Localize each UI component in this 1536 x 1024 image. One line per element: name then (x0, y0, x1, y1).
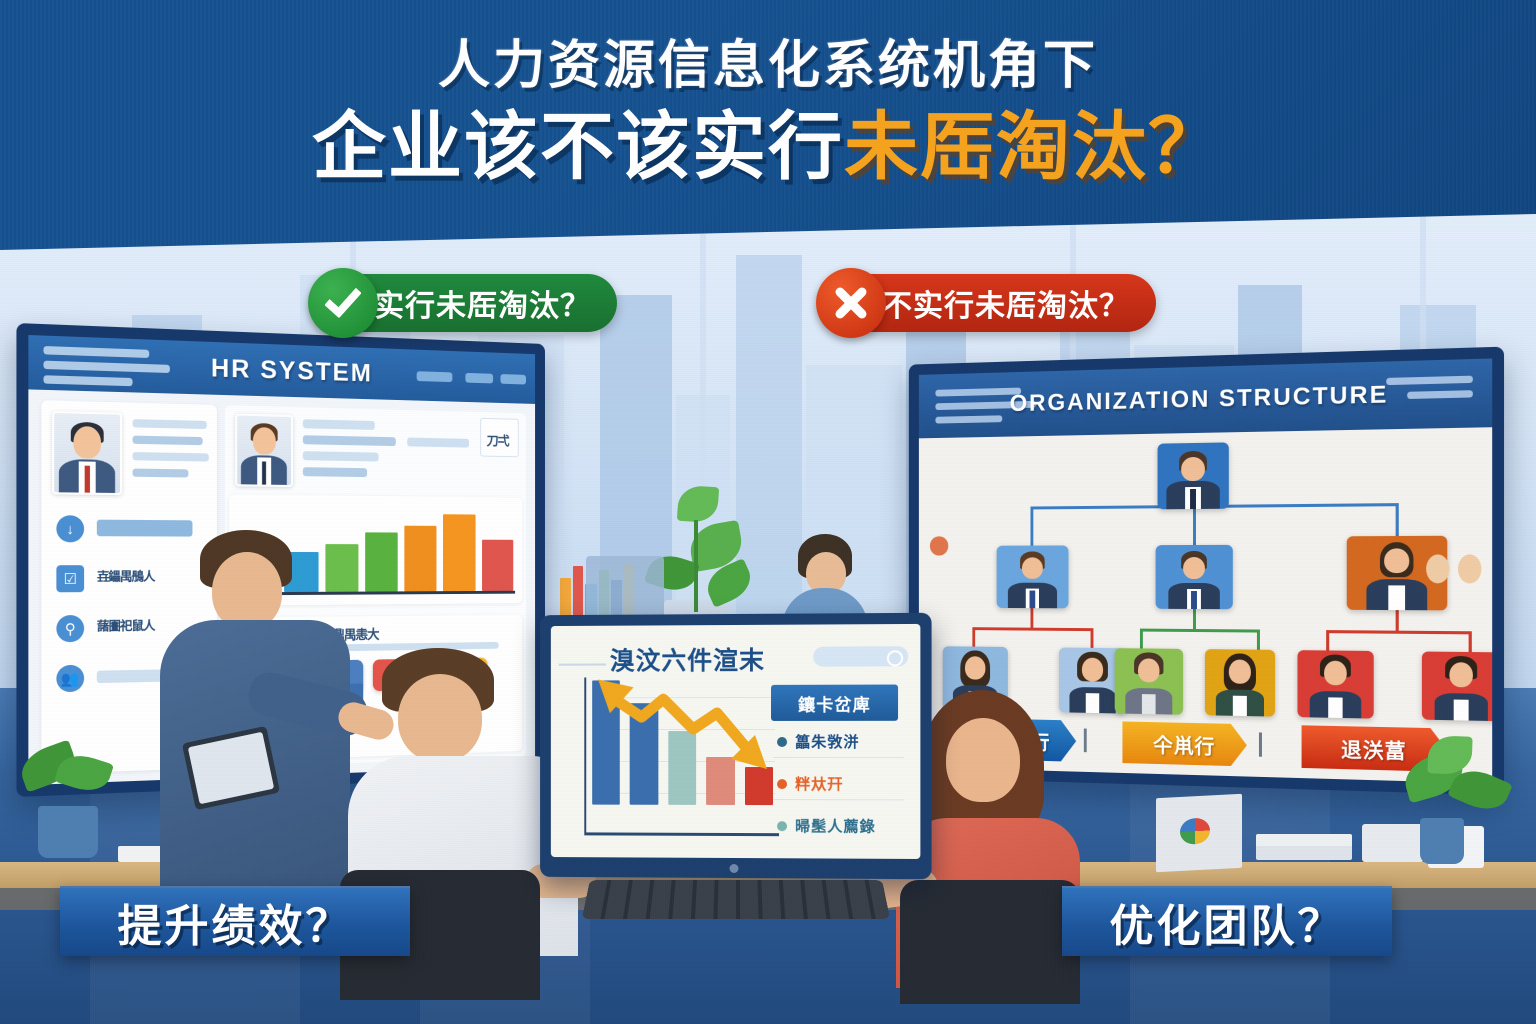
accent-dot (930, 536, 948, 555)
org-node-manager-a[interactable] (997, 545, 1069, 608)
org-connector (1326, 630, 1329, 652)
monitor-highlight-label: 鑲卡岔庳 (798, 690, 871, 715)
download-icon[interactable]: ↓ (56, 515, 84, 542)
org-node-ceo[interactable] (1158, 442, 1229, 509)
org-connector (972, 627, 1093, 631)
monitor-bullet-2: 䉽夶幵 (795, 773, 843, 794)
org-pill-3-label: 退浂葍 (1341, 733, 1407, 764)
bullet-dot (777, 737, 787, 747)
bottom-banner-right-label: 优化团队？ (1110, 890, 1345, 954)
bottom-banner-right: 优化团队？ (1062, 886, 1392, 956)
poster-root: 人力资源信息化系统机角下 企业该不该实行未厒淘汰？ 实行未厒淘汰？ 不实行未厒淘… (0, 0, 1536, 1024)
left-plant-pot (38, 806, 98, 858)
title-line2-white: 企业该不该实行 (312, 105, 844, 188)
bottom-banner-left-label: 提升绩效？ (118, 890, 353, 954)
page-title-line2: 企业该不该实行未厒淘汰？ (312, 110, 1224, 184)
org-connector (1030, 506, 1033, 547)
title-block: 人力资源信息化系统机角下 企业该不该实行未厒淘汰？ (0, 0, 1536, 250)
monitor-screen-content: 溴汶六件渲末 鑲卡岔庳 (551, 624, 921, 859)
org-node-staff-5[interactable] (1297, 650, 1373, 719)
org-node-staff-6[interactable] (1422, 651, 1501, 721)
bar-5 (404, 526, 436, 592)
org-connector (1326, 630, 1471, 634)
badge-yes-label: 实行未厒淘汰？ (374, 281, 591, 325)
hr-system-title: HR SYSTEM (28, 335, 535, 404)
employee-photo-1 (52, 411, 122, 495)
power-indicator (730, 864, 739, 873)
team-icon[interactable]: 👥 (56, 665, 84, 693)
standing-presenter (160, 530, 370, 930)
org-connector (1469, 631, 1472, 654)
org-connector (972, 627, 975, 648)
note-glyph: 刀弌 (487, 431, 509, 450)
monitor-highlight-chip[interactable]: 鑲卡岔庳 (771, 685, 898, 721)
page-title-line1: 人力资源信息化系统机角下 (438, 40, 1098, 92)
title-line2-orange: 未厒淘汰？ (844, 105, 1224, 188)
checkbox-icon[interactable]: ☑ (56, 565, 84, 592)
org-connector (1140, 629, 1143, 651)
monitor-bullet-3: 㫶髬人薦錄 (795, 815, 876, 836)
badge-no-label: 不实行未厒淘汰？ (882, 281, 1130, 325)
org-connector (1091, 628, 1094, 650)
note-card: 刀弌 (480, 418, 519, 457)
hr-sidebar-label-2: 藷圕祀鼠人 (97, 616, 155, 634)
org-connector (1193, 607, 1196, 631)
hr-sidebar-label-1: 壵鑘禺鴅人 (97, 567, 155, 585)
bottom-banner-left: 提升绩效？ (60, 886, 410, 956)
cross-icon (816, 268, 886, 338)
desk-plant-pot (1420, 818, 1464, 864)
center-monitor[interactable]: 溴汶六件渲末 鑲卡岔庳 (540, 613, 931, 879)
downward-trend-arrow (590, 673, 779, 808)
org-node-manager-b[interactable] (1156, 545, 1233, 609)
org-connector (1030, 606, 1033, 629)
bar-6 (443, 514, 475, 591)
person-search-icon[interactable]: ⚲ (56, 615, 84, 642)
search-input[interactable] (813, 646, 908, 667)
employee-photo-2 (235, 414, 293, 487)
org-pill-2-label: 仐鼡行 (1153, 729, 1215, 759)
office-chair-right (900, 880, 1080, 1004)
org-connector (1140, 629, 1259, 633)
desk-tray (1362, 824, 1424, 862)
accent-dot (1426, 554, 1449, 583)
badge-implement-no[interactable]: 不实行未厒淘汰？ (820, 274, 1156, 332)
paper-stack (1256, 846, 1352, 860)
bullet-dot (777, 821, 787, 831)
org-pill-2[interactable]: 仐鼡行 (1122, 721, 1246, 766)
org-node-staff-4[interactable] (1205, 649, 1275, 717)
desk-frame (1156, 794, 1242, 873)
badge-implement-yes[interactable]: 实行未厒淘汰？ (312, 274, 617, 332)
org-connector (1193, 507, 1196, 545)
keyboard[interactable] (582, 880, 890, 919)
org-connector (1396, 608, 1399, 633)
accent-dot (1458, 554, 1482, 583)
org-structure-title: ORGANIZATION STRUCTURE (919, 358, 1492, 438)
org-connector (1257, 630, 1260, 652)
org-node-staff-3[interactable] (1115, 648, 1183, 715)
check-icon (308, 268, 378, 338)
monitor-bullet-1: 䉪朱敩洴 (795, 731, 859, 752)
bullet-dot (777, 779, 787, 789)
bar-7 (482, 539, 513, 591)
trend-bar-chart (551, 624, 921, 626)
